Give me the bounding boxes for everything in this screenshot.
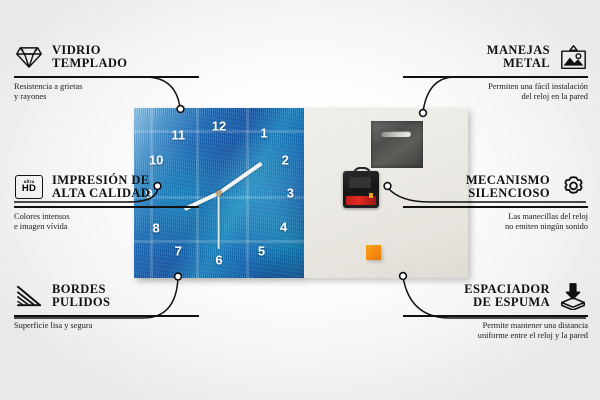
feature-manejas-metal: MANEJAS METAL Permiten una fácil instala… xyxy=(403,42,588,103)
feature-divider xyxy=(403,315,588,317)
feature-vidrio-templado: VIDRIO TEMPLADO Resistencia a grietas y … xyxy=(14,42,199,103)
clock-center-cap xyxy=(216,190,222,196)
hanger-slot xyxy=(381,131,411,137)
picture-frame-icon xyxy=(558,42,588,72)
clock-numeral: 3 xyxy=(287,187,294,200)
clock-mechanism xyxy=(343,171,379,208)
feature-espaciador-espuma: ESPACIADOR DE ESPUMA Permite mantener un… xyxy=(403,281,588,342)
feature-desc: Permite mantener una distancia xyxy=(403,321,588,332)
clock-numeral: 6 xyxy=(215,254,222,267)
mechanism-dial xyxy=(349,177,371,188)
clock-second-hand xyxy=(218,193,220,249)
foam-spacer-icon xyxy=(558,281,588,311)
feature-title: MANEJAS xyxy=(487,44,550,58)
metal-hanger-plate xyxy=(371,121,423,168)
feature-divider xyxy=(403,76,588,78)
feature-bordes-pulidos: BORDES PULIDOS Superficie lisa y segura xyxy=(14,281,199,331)
feature-divider xyxy=(14,206,199,208)
feature-desc: Permiten una fácil instalación xyxy=(403,82,588,93)
clock-numeral: 1 xyxy=(260,127,267,140)
clock-numeral: 7 xyxy=(175,245,182,258)
clock-numeral: 10 xyxy=(149,154,163,167)
feature-desc: del reloj en la pared xyxy=(403,92,588,103)
foam-spacer xyxy=(366,245,381,260)
clock-numeral: 5 xyxy=(258,245,265,258)
clock-numeral: 11 xyxy=(171,129,185,142)
clock-numeral: 12 xyxy=(212,120,226,133)
feature-mecanismo-silencioso: MECANISMO SILENCIOSO Las manecillas del … xyxy=(403,172,588,233)
mechanism-hook xyxy=(353,167,371,176)
gear-icon xyxy=(558,172,588,202)
feature-title: IMPRESIÓN DE xyxy=(52,174,150,188)
feature-title: ESPACIADOR xyxy=(464,283,550,297)
hd-label: HD xyxy=(22,184,36,194)
feature-desc: Superficie lisa y segura xyxy=(14,321,199,332)
feature-divider xyxy=(403,206,588,208)
battery-terminal xyxy=(369,193,373,198)
polished-edge-icon xyxy=(14,281,44,311)
feature-desc: uniforme entre el reloj y la pared xyxy=(403,331,588,342)
feature-divider xyxy=(14,76,199,78)
feature-impresion-alta-calidad: ultra HD IMPRESIÓN DE ALTA CALIDAD Color… xyxy=(14,172,199,233)
feature-desc: y rayones xyxy=(14,92,199,103)
feature-divider xyxy=(14,315,199,317)
feature-title: DE ESPUMA xyxy=(464,296,550,310)
feature-desc: no emiten ningún sonido xyxy=(403,222,588,233)
diamond-icon xyxy=(14,42,44,72)
feature-desc: Resistencia a grietas xyxy=(14,82,199,93)
feature-title: METAL xyxy=(487,57,550,71)
infographic-canvas: 12 1 2 3 4 5 6 7 8 9 10 11 xyxy=(0,0,600,400)
feature-title: SILENCIOSO xyxy=(466,187,550,201)
feature-title: ALTA CALIDAD xyxy=(52,187,150,201)
feature-title: PULIDOS xyxy=(52,296,110,310)
clock-minute-hand xyxy=(218,162,263,195)
feature-desc: Colores intensos xyxy=(14,212,199,223)
clock-numeral: 4 xyxy=(280,221,287,234)
feature-title: VIDRIO xyxy=(52,44,127,58)
ultra-hd-icon: ultra HD xyxy=(14,172,44,202)
feature-desc: e imagen vívida xyxy=(14,222,199,233)
clock-numeral: 2 xyxy=(282,154,289,167)
feature-desc: Las manecillas del reloj xyxy=(403,212,588,223)
feature-title: MECANISMO xyxy=(466,174,550,188)
battery xyxy=(346,196,376,205)
feature-title: BORDES xyxy=(52,283,110,297)
feature-title: TEMPLADO xyxy=(52,57,127,71)
